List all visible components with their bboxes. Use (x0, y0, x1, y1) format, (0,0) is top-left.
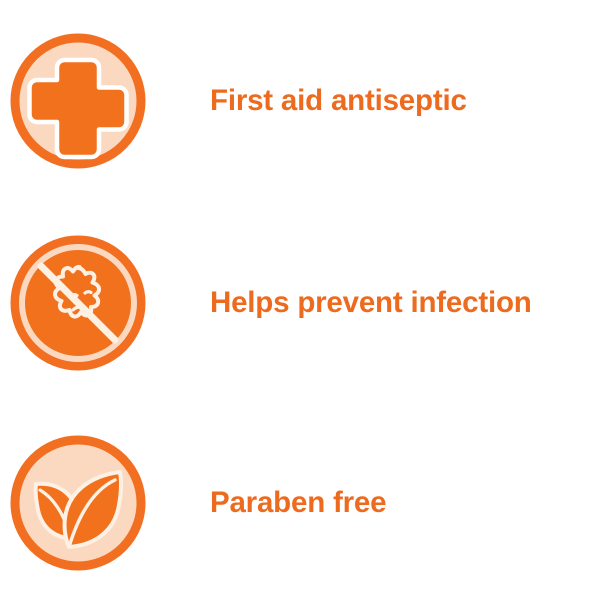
no-germs-icon-svg (7, 232, 149, 374)
feature-label-first-aid: First aid antiseptic (210, 86, 467, 116)
feature-label-paraben: Paraben free (210, 488, 386, 518)
leaves-icon-svg (7, 432, 149, 574)
feature-list: First aid antiseptic Helps prevent infec… (0, 0, 600, 600)
medical-cross-icon (7, 30, 149, 172)
no-germs-icon (7, 232, 149, 374)
feature-label-infection: Helps prevent infection (210, 288, 532, 318)
feature-row-infection: Helps prevent infection (0, 228, 600, 378)
feature-row-paraben: Paraben free (0, 428, 600, 578)
feature-row-first-aid: First aid antiseptic (0, 26, 600, 176)
leaves-icon (7, 432, 149, 574)
medical-cross-icon-svg (7, 30, 149, 172)
